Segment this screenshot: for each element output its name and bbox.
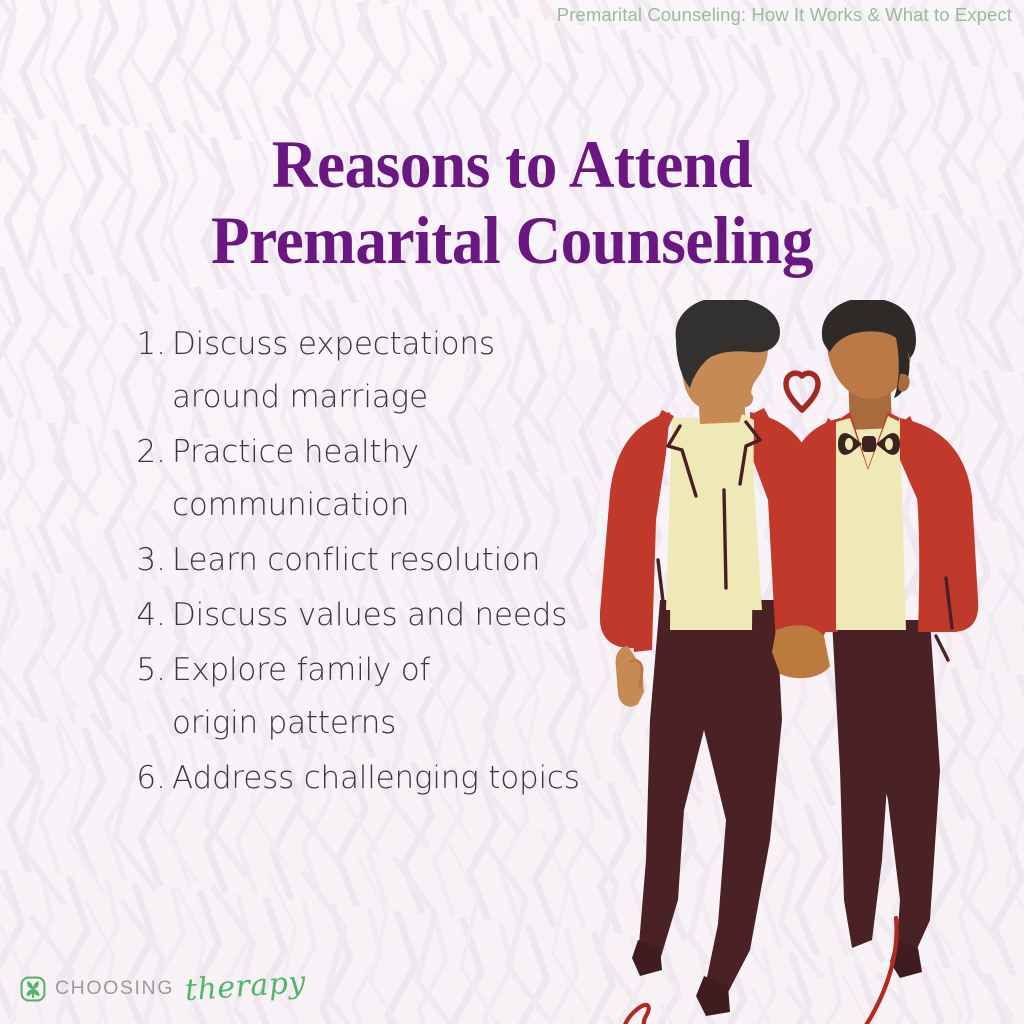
list-item-label: Discuss values and needs: [172, 589, 628, 642]
brand-logo[interactable]: CHOOSING therapy: [20, 971, 306, 1006]
list-item-number: 1.: [128, 318, 172, 371]
logo-text-choosing: CHOOSING: [55, 977, 174, 1000]
couple-illustration: [600, 300, 1024, 1024]
list-item-label: Practice healthy communication: [172, 426, 502, 532]
page-title: Reasons to Attend Premarital Counseling: [36, 126, 988, 278]
figure-left: [600, 300, 830, 1016]
bowtie-icon: [838, 433, 900, 455]
page-title-line-2: Premarital Counseling: [36, 202, 988, 278]
leaf-flower-icon: [20, 976, 46, 1002]
list-item: 4. Discuss values and needs: [128, 589, 628, 642]
list-item-number: 3.: [128, 534, 172, 587]
page-eyebrow-title: Premarital Counseling: How It Works & Wh…: [557, 4, 1012, 26]
list-item-label: Explore family of origin patterns: [172, 644, 502, 750]
logo-text-therapy: therapy: [184, 965, 307, 1008]
swirl-decoration: [621, 1005, 776, 1024]
list-item: 6. Address challenging topics: [128, 752, 628, 805]
list-item-number: 6.: [128, 752, 172, 805]
list-item-number: 5.: [128, 644, 172, 697]
list-item: 1. Discuss expectations around marriage: [128, 318, 628, 424]
list-item: 5. Explore family of origin patterns: [128, 644, 628, 750]
page-title-line-1: Reasons to Attend: [36, 126, 988, 202]
list-item-number: 2.: [128, 426, 172, 479]
list-item-number: 4.: [128, 589, 172, 642]
infographic-canvas: Premarital Counseling: How It Works & Wh…: [0, 0, 1024, 1024]
list-item-label: Discuss expectations around marriage: [172, 318, 517, 424]
list-item: 3. Learn conflict resolution: [128, 534, 628, 587]
reasons-list: 1. Discuss expectations around marriage …: [128, 318, 628, 807]
list-item: 2. Practice healthy communication: [128, 426, 628, 532]
list-item-label: Address challenging topics: [172, 752, 628, 805]
heart-outline-icon: [786, 373, 818, 410]
list-item-label: Learn conflict resolution: [172, 534, 628, 587]
